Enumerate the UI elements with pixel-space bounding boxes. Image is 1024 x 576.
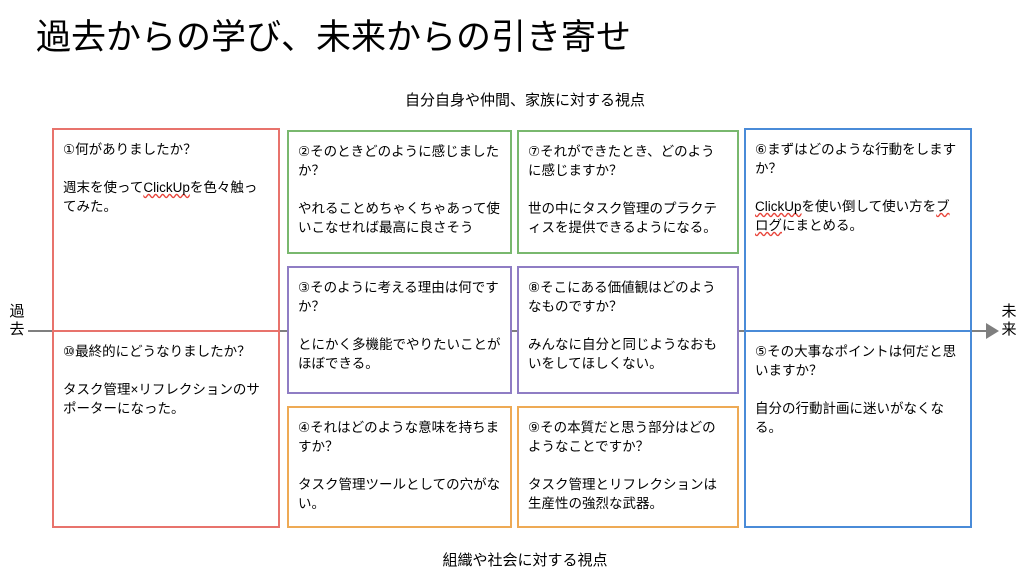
- box-5[interactable]: ⑤その大事なポイントは何だと思いますか？ 自分の行動計画に迷いがなくなる。: [746, 332, 970, 526]
- box-6-question: ⑥まずはどのような行動をしますか？: [755, 140, 961, 178]
- box-8-answer: みんなに自分と同じようなおもいをしてほしくない。: [528, 335, 728, 373]
- box-6[interactable]: ⑥まずはどのような行動をしますか？ ClickUpを使い倒して使い方をブログにま…: [746, 130, 970, 332]
- box-9-content: ⑨その本質だと思う部分はどのようなことですか？ タスク管理とリフレクションは生産…: [519, 408, 737, 526]
- box-8-content: ⑧そこにある価値観はどのようなものですか？ みんなに自分と同じようなおもいをして…: [519, 268, 737, 392]
- box-8-question: ⑧そこにある価値観はどのようなものですか？: [528, 278, 728, 316]
- box-4[interactable]: ④それはどのような意味を持ちますか？ タスク管理ツールとしての穴がない。: [287, 406, 512, 528]
- box-2-content: ②そのときどのように感じましたか？ やれることめちゃくちゃあって使いこなせれば最…: [289, 132, 510, 252]
- box-10-answer: タスク管理×リフレクションのサポーターになった。: [63, 380, 269, 418]
- box-6-answer: ClickUpを使い倒して使い方をブログにまとめる。: [755, 197, 961, 235]
- box-7-content: ⑦それができたとき、どのように感じますか？ 世の中にタスク管理のプラクティスを提…: [519, 132, 737, 252]
- box-6-spellcheck-term-1: ClickUp: [755, 199, 802, 214]
- box-3[interactable]: ③そのように考える理由は何ですか？ とにかく多機能でやりたいことがほぼできる。: [287, 266, 512, 394]
- page-title: 過去からの学び、未来からの引き寄せ: [36, 16, 631, 60]
- box-2-question: ②そのときどのように感じましたか？: [298, 142, 501, 180]
- box-7-question: ⑦それができたとき、どのように感じますか？: [528, 142, 728, 180]
- box-10-question: ⑩最終的にどうなりましたか？: [63, 342, 269, 361]
- axis-label-future: 未来: [998, 303, 1020, 339]
- box-4-content: ④それはどのような意味を持ちますか？ タスク管理ツールとしての穴がない。: [289, 408, 510, 526]
- box-10[interactable]: ⑩最終的にどうなりましたか？ タスク管理×リフレクションのサポーターになった。: [54, 332, 278, 526]
- box-3-answer: とにかく多機能でやりたいことがほぼできる。: [298, 335, 501, 373]
- box-7-answer: 世の中にタスク管理のプラクティスを提供できるようになる。: [528, 199, 728, 237]
- axis-label-social-perspective: 組織や社会に対する視点: [330, 552, 720, 570]
- box-9[interactable]: ⑨その本質だと思う部分はどのようなことですか？ タスク管理とリフレクションは生産…: [517, 406, 739, 528]
- box-2-answer: やれることめちゃくちゃあって使いこなせれば最高に良さそう: [298, 199, 501, 237]
- box-4-answer: タスク管理ツールとしての穴がない。: [298, 475, 501, 513]
- box-3-question: ③そのように考える理由は何ですか？: [298, 278, 501, 316]
- box-4-question: ④それはどのような意味を持ちますか？: [298, 418, 501, 456]
- box-9-question: ⑨その本質だと思う部分はどのようなことですか？: [528, 418, 728, 456]
- box-1-answer: 週末を使ってClickUpを色々触ってみた。: [63, 178, 269, 216]
- box-5-question: ⑤その大事なポイントは何だと思いますか？: [755, 342, 961, 380]
- box-5-answer: 自分の行動計画に迷いがなくなる。: [755, 399, 961, 437]
- box-7[interactable]: ⑦それができたとき、どのように感じますか？ 世の中にタスク管理のプラクティスを提…: [517, 130, 739, 254]
- box-3-content: ③そのように考える理由は何ですか？ とにかく多機能でやりたいことがほぼできる。: [289, 268, 510, 392]
- box-2[interactable]: ②そのときどのように感じましたか？ やれることめちゃくちゃあって使いこなせれば最…: [287, 130, 512, 254]
- future-column-container: ⑥まずはどのような行動をしますか？ ClickUpを使い倒して使い方をブログにま…: [744, 128, 972, 528]
- axis-label-personal-perspective: 自分自身や仲間、家族に対する視点: [330, 92, 720, 110]
- box-8[interactable]: ⑧そこにある価値観はどのようなものですか？ みんなに自分と同じようなおもいをして…: [517, 266, 739, 394]
- axis-label-past: 過去: [6, 303, 28, 339]
- box-9-answer: タスク管理とリフレクションは生産性の強烈な武器。: [528, 475, 728, 513]
- past-column-container: ①何がありましたか？ 週末を使ってClickUpを色々触ってみた。 ⑩最終的にど…: [52, 128, 280, 528]
- box-1-spellcheck-term: ClickUp: [143, 180, 190, 195]
- box-1-question: ①何がありましたか？: [63, 140, 269, 159]
- box-1[interactable]: ①何がありましたか？ 週末を使ってClickUpを色々触ってみた。: [54, 130, 278, 332]
